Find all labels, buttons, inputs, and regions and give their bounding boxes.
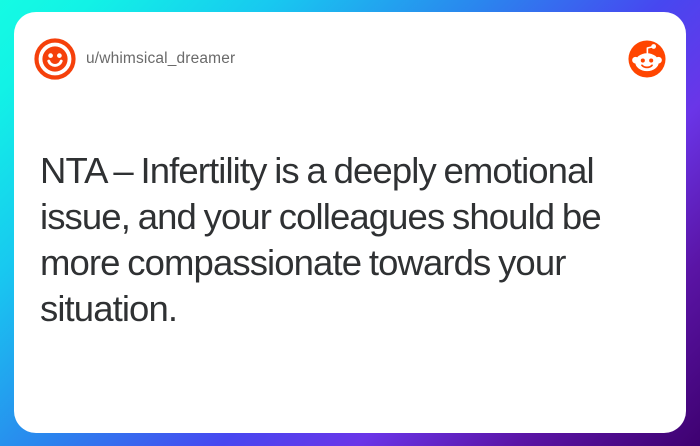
username-label: u/whimsical_dreamer [86, 50, 235, 68]
gradient-background: u/whimsical_dreamer NTA – Infertility is [0, 0, 700, 446]
reddit-post-card: u/whimsical_dreamer NTA – Infertility is [14, 12, 686, 433]
post-header: u/whimsical_dreamer [14, 12, 686, 98]
reddit-snoo-icon[interactable] [628, 40, 666, 78]
post-body-text: NTA – Infertility is a deeply emotional … [40, 148, 658, 332]
smiley-face-icon[interactable] [34, 38, 76, 80]
